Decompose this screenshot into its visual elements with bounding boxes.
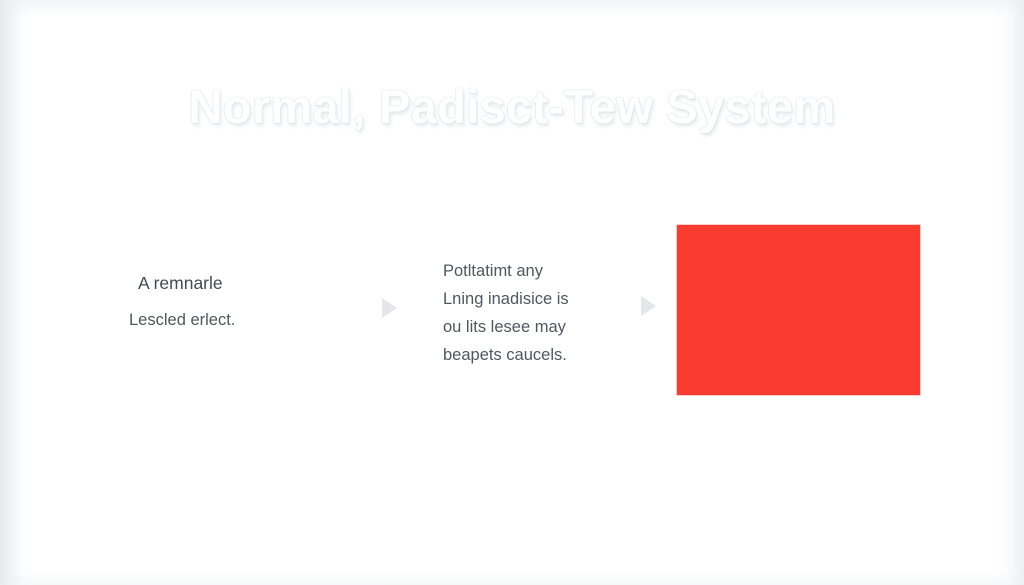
flow-stage-one-text: A remnarle Lescled erlect.: [129, 268, 359, 336]
process-flow-diagram: A remnarle Lescled erlect. Potltatimt an…: [0, 225, 1024, 400]
flow-stage-two-text: Potltatimt any Lning inadisice is ou lit…: [443, 257, 618, 369]
flow-arrow-right-icon-two: [641, 296, 656, 316]
flow-stage-three-red-panel: [677, 225, 920, 395]
flow-stage-two-line: Lning inadisice is: [443, 285, 618, 313]
flow-stage-two-line: ou lits lesee may: [443, 313, 618, 341]
flow-stage-one-body: Lescled erlect.: [129, 304, 359, 336]
slide-title: Normal, Padisct-Tew System: [0, 78, 1024, 136]
flow-stage-one-heading: A remnarle: [129, 268, 359, 298]
flow-stage-two-line: beapets caucels.: [443, 341, 618, 369]
flow-arrow-right-icon-one: [382, 298, 397, 318]
flow-stage-two-line: Potltatimt any: [443, 257, 618, 285]
slide-canvas: Normal, Padisct-Tew System A remnarle Le…: [0, 0, 1024, 585]
